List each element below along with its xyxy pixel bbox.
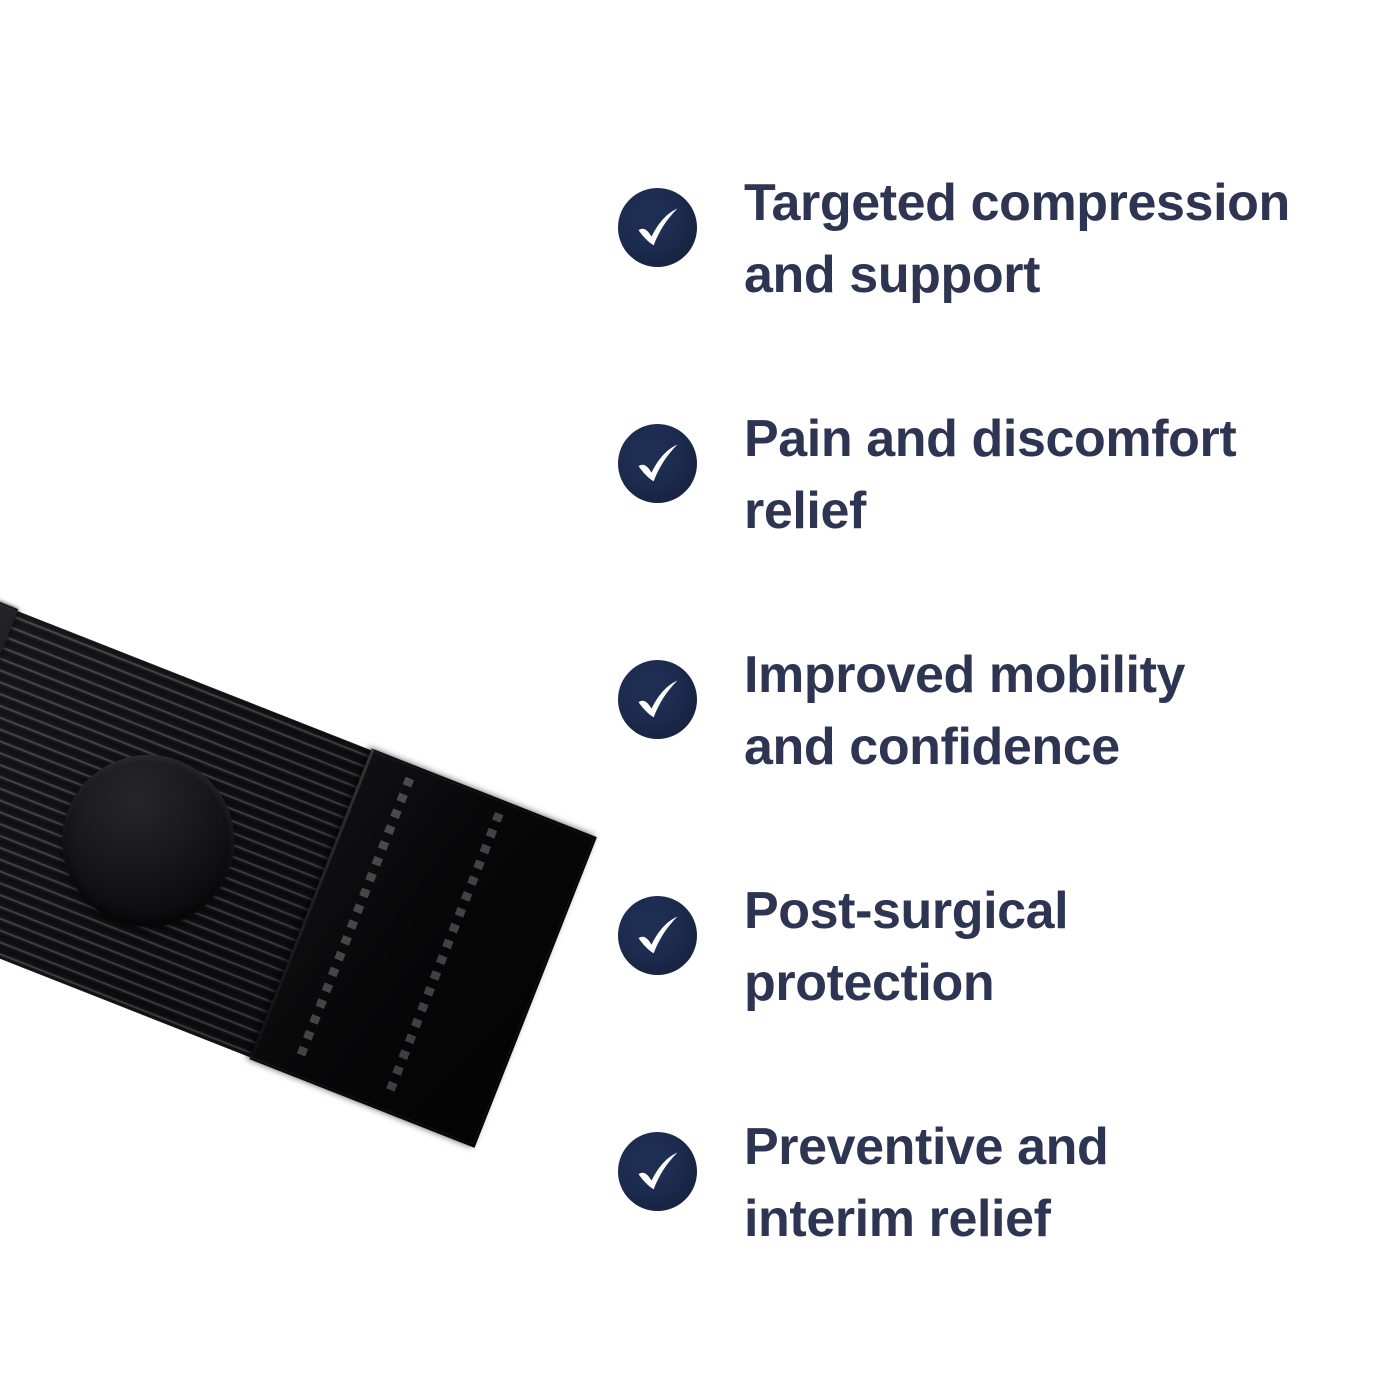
compression-belt	[0, 545, 594, 1145]
stitch-line-2	[383, 812, 504, 1100]
check-circle-icon	[618, 188, 697, 267]
benefit-label: Improved mobility and confidence	[744, 640, 1185, 784]
benefits-list: Targeted compression and support Pain an…	[618, 168, 1388, 1256]
benefit-item-3: Improved mobility and confidence	[618, 640, 1388, 876]
product-image	[0, 0, 700, 1400]
check-circle-icon	[618, 896, 697, 975]
benefit-label: Targeted compression and support	[744, 168, 1290, 312]
benefit-label: Preventive and interim relief	[744, 1112, 1108, 1256]
check-circle-icon	[618, 1132, 697, 1211]
benefit-item-1: Targeted compression and support	[618, 168, 1388, 404]
check-circle-icon	[618, 660, 697, 739]
benefit-label: Post-surgical protection	[744, 876, 1068, 1020]
benefit-item-5: Preventive and interim relief	[618, 1112, 1388, 1256]
check-circle-icon	[618, 424, 697, 503]
benefit-item-4: Post-surgical protection	[618, 876, 1388, 1112]
benefit-label: Pain and discomfort relief	[744, 404, 1236, 548]
benefit-item-2: Pain and discomfort relief	[618, 404, 1388, 640]
